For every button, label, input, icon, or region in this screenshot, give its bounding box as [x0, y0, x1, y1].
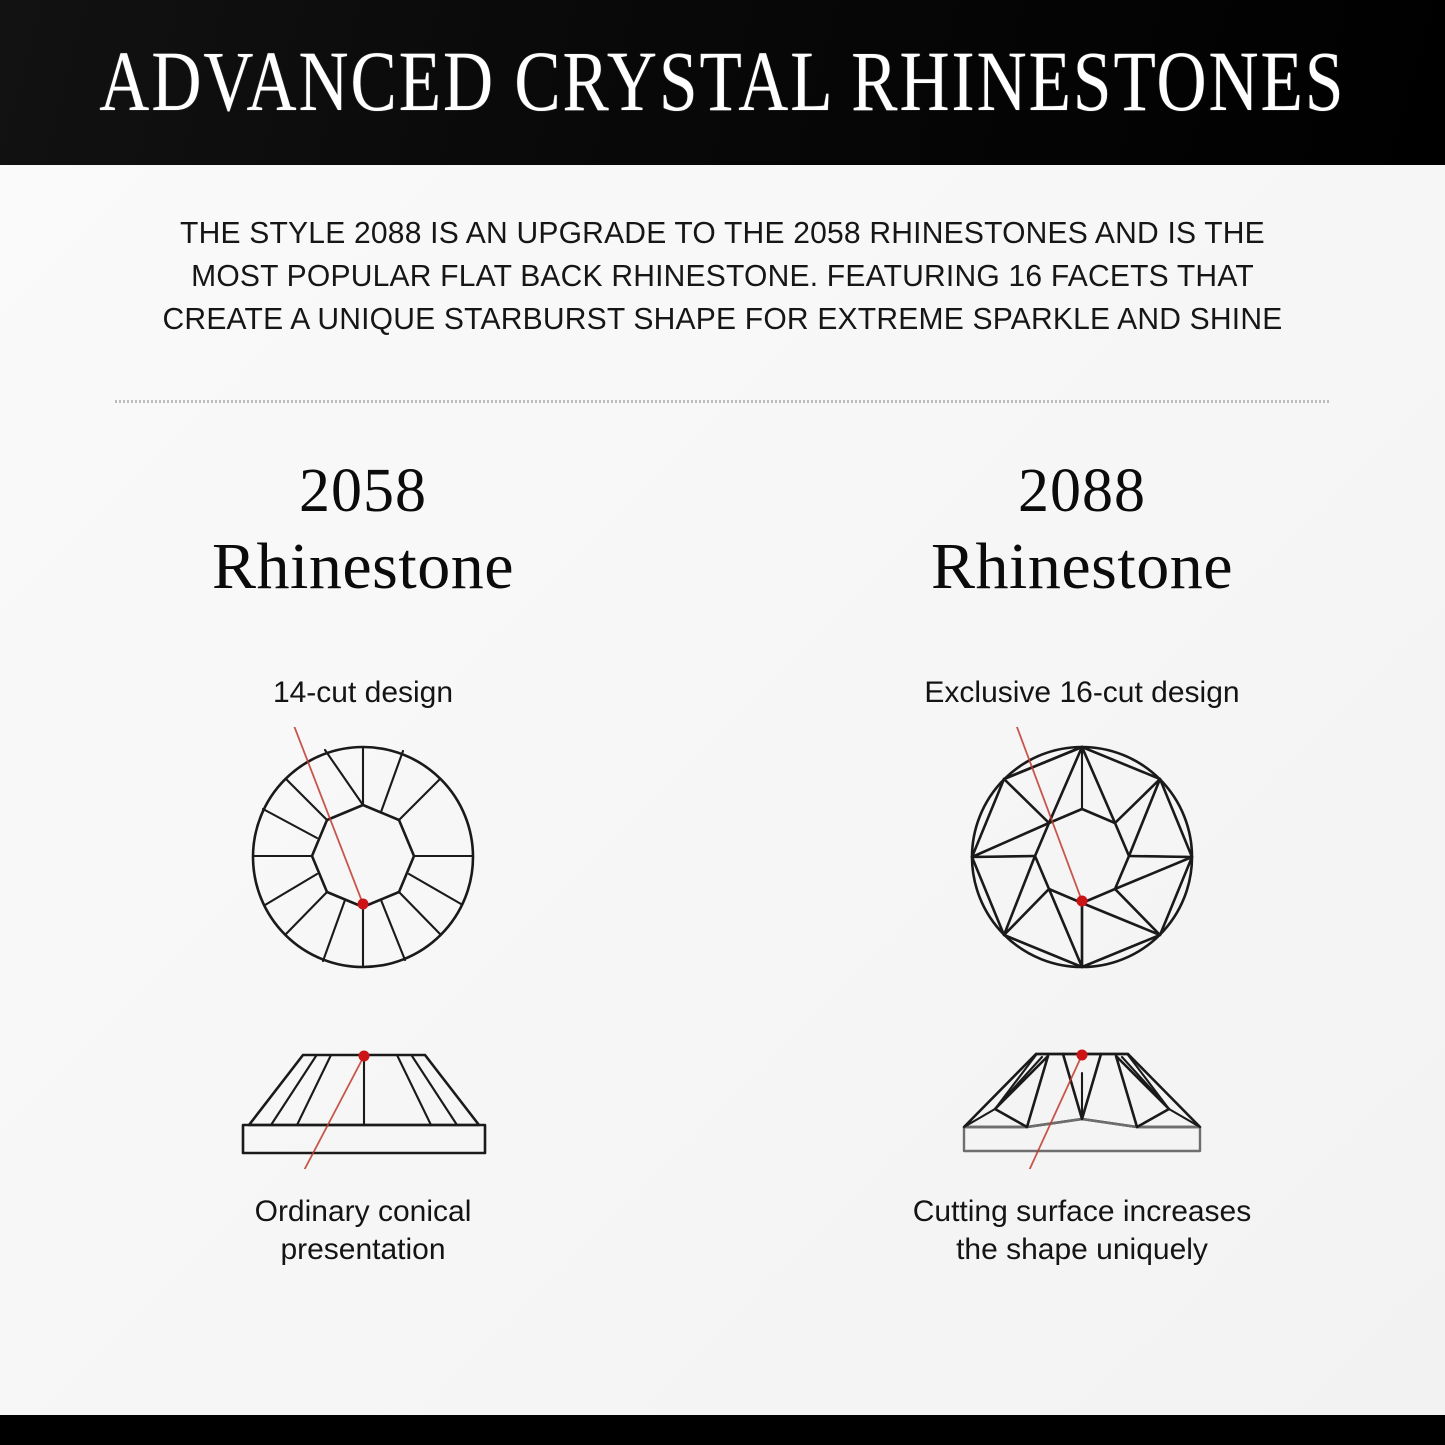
starburst-profile-icon [932, 1039, 1232, 1169]
column-title-2058: 2058 Rhinestone [43, 455, 683, 607]
side-view-diagram-2058-wrap [43, 1039, 683, 1169]
callout-bottom-2088: Cutting surface increases the shape uniq… [762, 1193, 1402, 1269]
page-title: ADVANCED CRYSTAL RHINESTONES [99, 40, 1345, 125]
intro-line-1: THE STYLE 2088 IS AN UPGRADE TO THE 2058… [11, 212, 1434, 255]
column-title-2088: 2088 Rhinestone [762, 455, 1402, 607]
infographic-page: ADVANCED CRYSTAL RHINESTONES THE STYLE 2… [0, 0, 1445, 1445]
header-banner: ADVANCED CRYSTAL RHINESTONES [0, 0, 1445, 165]
column-title-word: Rhinestone [43, 527, 683, 607]
column-title-number: 2088 [762, 455, 1402, 527]
column-title-number: 2058 [43, 455, 683, 527]
callout-bottom-line-1: Ordinary conical [43, 1193, 683, 1231]
section-divider [115, 400, 1330, 403]
callout-bottom-2058: Ordinary conical presentation [43, 1193, 683, 1269]
radial-facet-wheel-icon [213, 727, 513, 977]
bottom-band [0, 1415, 1445, 1445]
column-title-word: Rhinestone [762, 527, 1402, 607]
callout-bottom-line-2: the shape uniquely [762, 1231, 1402, 1269]
starburst-facet-wheel-icon [932, 727, 1232, 977]
intro-line-3: CREATE A UNIQUE STARBURST SHAPE FOR EXTR… [11, 298, 1434, 341]
callout-top-2088: Exclusive 16-cut design [762, 675, 1402, 711]
top-view-diagram-2088-wrap [762, 727, 1402, 977]
side-view-diagram-2088-wrap [762, 1039, 1402, 1169]
intro-paragraph: THE STYLE 2088 IS AN UPGRADE TO THE 2058… [0, 212, 1445, 341]
callout-bottom-line-1: Cutting surface increases [762, 1193, 1402, 1231]
comparison-column-2058: 2058 Rhinestone 14-cut design [43, 455, 683, 1269]
callout-top-2058: 14-cut design [43, 675, 683, 711]
conical-profile-icon [213, 1039, 513, 1169]
callout-bottom-line-2: presentation [43, 1231, 683, 1269]
comparison-column-2088: 2088 Rhinestone Exclusive 16-cut design [762, 455, 1402, 1269]
intro-line-2: MOST POPULAR FLAT BACK RHINESTONE. FEATU… [11, 255, 1434, 298]
top-view-diagram-2058-wrap [43, 727, 683, 977]
